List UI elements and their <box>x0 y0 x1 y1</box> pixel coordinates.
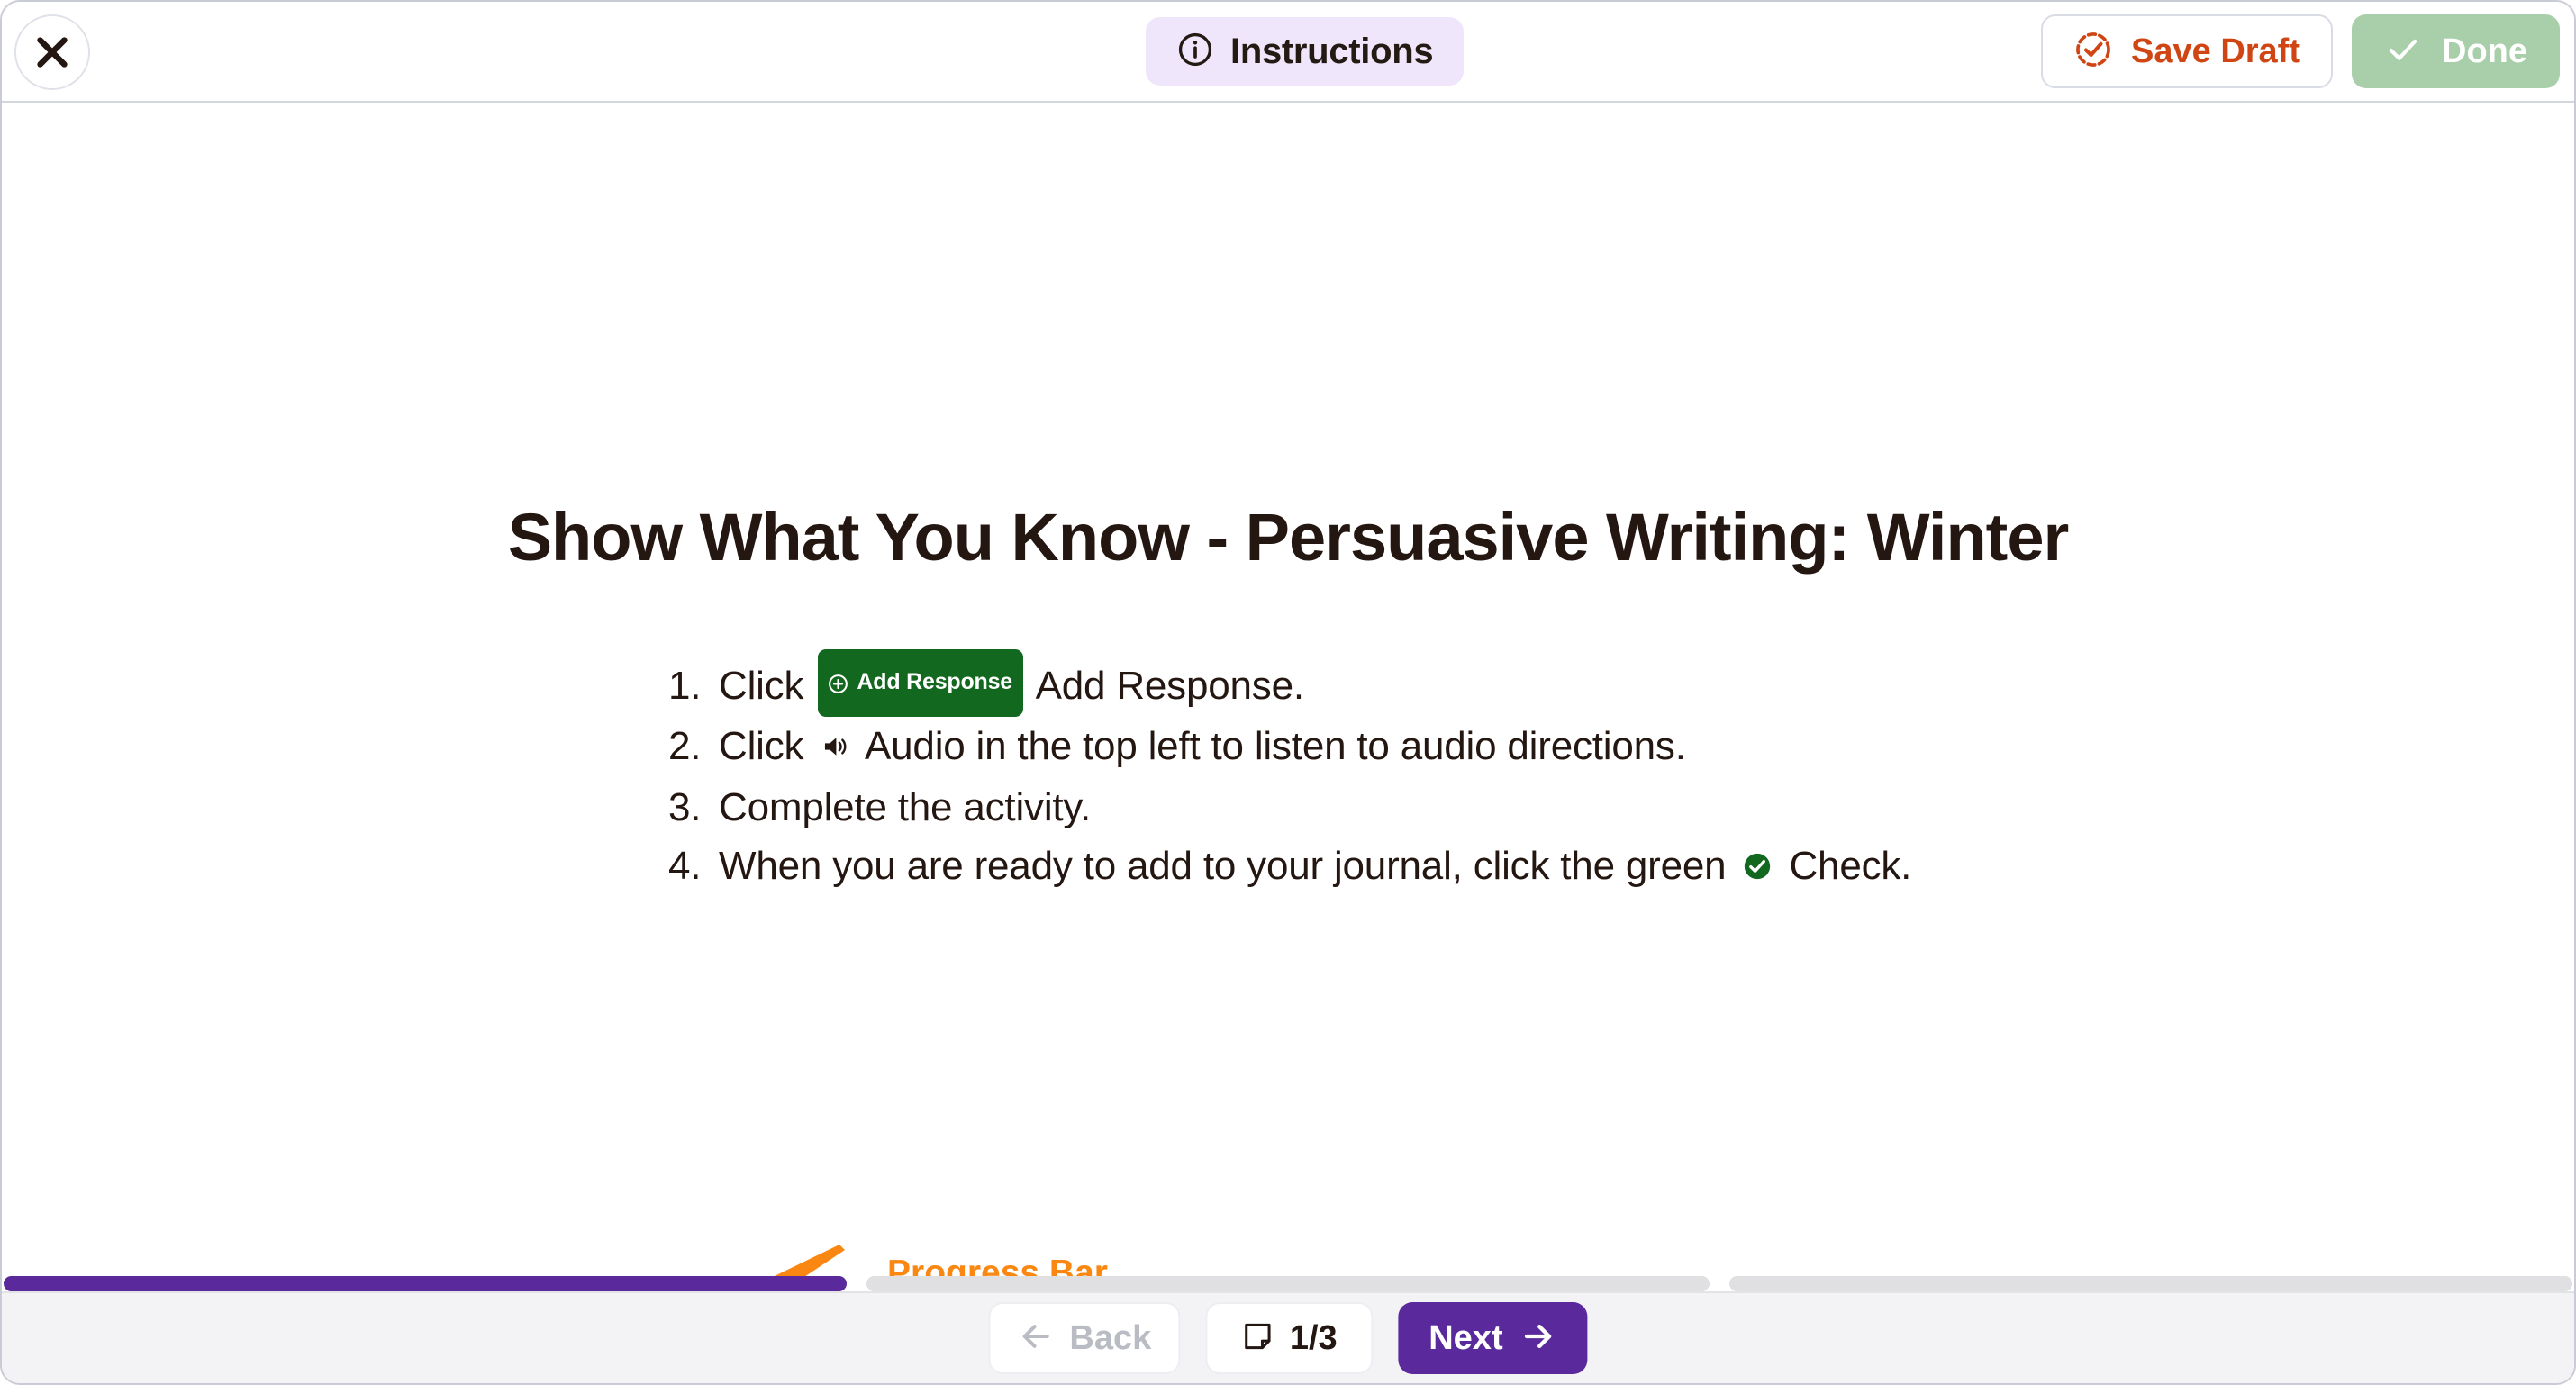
progress-segment <box>4 1276 847 1291</box>
step-text-before: Complete the activity. <box>719 785 1091 829</box>
save-draft-button[interactable]: Save Draft <box>2041 14 2333 88</box>
back-button[interactable]: Back <box>988 1302 1180 1374</box>
progress-segment <box>1729 1276 2572 1291</box>
step-text-before: Click <box>719 664 803 708</box>
page-indicator[interactable]: 1/3 <box>1205 1302 1373 1374</box>
instructions-badge[interactable]: Instructions <box>1146 17 1464 86</box>
step-number: 3. <box>668 778 708 837</box>
list-item: 3. Complete the activity. <box>668 778 2109 837</box>
done-button[interactable]: Done <box>2352 14 2560 88</box>
info-circle-icon <box>1176 31 1214 73</box>
done-label: Done <box>2442 32 2527 71</box>
instructions-list: 1. Click Add Response Add Response. 2. <box>668 649 2109 898</box>
close-button[interactable] <box>14 14 90 90</box>
top-toolbar: Instructions Save Draft Done <box>2 2 2574 103</box>
step-text-after: Audio in the top left to listen to audio… <box>865 724 1686 768</box>
list-item: 1. Click Add Response Add Response. <box>668 649 2109 717</box>
list-item: 4. When you are ready to add to your jou… <box>668 837 2109 898</box>
step-text-before: Click <box>719 724 803 768</box>
instructions-label: Instructions <box>1230 32 1433 72</box>
bottom-toolbar: Back 1/3 Next <box>2 1291 2574 1383</box>
navigation-group: Back 1/3 Next <box>988 1302 1587 1374</box>
page-title: Show What You Know - Persuasive Writing:… <box>2 499 2574 575</box>
save-draft-label: Save Draft <box>2131 32 2300 71</box>
add-response-badge-label: Add Response <box>857 653 1012 711</box>
activity-window: Instructions Save Draft Done Show What Y… <box>0 0 2576 1385</box>
page-indicator-label: 1/3 <box>1290 1319 1338 1358</box>
step-number: 4. <box>668 837 708 895</box>
progress-segment <box>866 1276 1710 1291</box>
add-response-badge[interactable]: Add Response <box>818 649 1023 717</box>
step-number: 1. <box>668 656 708 715</box>
step-text-after: Add Response. <box>1036 664 1304 708</box>
arrow-left-icon <box>1017 1318 1053 1359</box>
check-icon <box>2384 31 2422 73</box>
next-label: Next <box>1429 1319 1502 1358</box>
speaker-audio-icon <box>820 720 850 778</box>
list-item: 2. Click Audio in the top left to listen… <box>668 717 2109 778</box>
page-note-icon <box>1241 1319 1275 1358</box>
progress-bar[interactable] <box>2 1276 2574 1291</box>
arrow-right-icon <box>1521 1318 1557 1359</box>
back-label: Back <box>1069 1319 1151 1358</box>
close-icon <box>32 32 73 73</box>
slide-content: Show What You Know - Persuasive Writing:… <box>2 103 2574 1282</box>
step-text-after: Check. <box>1789 844 1911 888</box>
step-text-before: When you are ready to add to your journa… <box>719 844 1726 888</box>
next-button[interactable]: Next <box>1398 1302 1587 1374</box>
circle-check-dashed-icon <box>2073 30 2113 74</box>
step-number: 2. <box>668 717 708 775</box>
green-check-circle-icon <box>1742 839 1773 898</box>
plus-circle-icon <box>827 653 849 711</box>
